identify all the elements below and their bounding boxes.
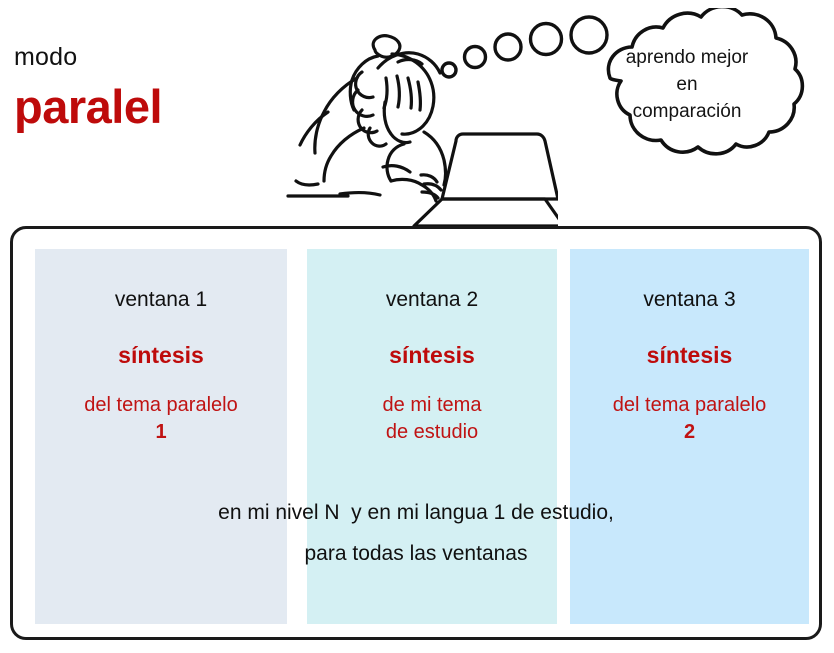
window-3-synthesis-label: síntesis — [570, 342, 809, 370]
window-3-description: del tema paralelo 2 — [570, 392, 809, 447]
bubble-line-2: en — [593, 72, 781, 99]
mode-label: modo — [14, 44, 274, 70]
footer-line-2: para todas las ventanas — [13, 534, 819, 575]
window-2-synthesis-label: síntesis — [307, 342, 557, 370]
mode-value: paralel — [14, 82, 274, 133]
window-2-desc-line-2: de estudio — [307, 419, 557, 447]
window-3-desc-line-1: del tema paralelo — [570, 392, 809, 420]
window-2-description: de mi tema de estudio — [307, 392, 557, 447]
bubble-line-1: aprendo mejor — [593, 45, 781, 72]
window-2-title: ventana 2 — [307, 287, 557, 312]
window-1-desc-line-1: del tema paralelo — [35, 392, 287, 420]
window-1-desc-line-2: 1 — [35, 419, 287, 447]
window-2-desc-line-1: de mi tema — [307, 392, 557, 420]
footer-line-1: en mi nivel N y en mi langua 1 de estudi… — [13, 493, 819, 534]
window-1-title: ventana 1 — [35, 287, 287, 312]
mode-heading: modo paralel — [14, 44, 274, 133]
thought-bubble-text: aprendo mejor en comparación — [593, 45, 781, 126]
window-3-title: ventana 3 — [570, 287, 809, 312]
window-1-synthesis-label: síntesis — [35, 342, 287, 370]
bubble-line-3: comparación — [593, 99, 781, 126]
panel-footer-note: en mi nivel N y en mi langua 1 de estudi… — [13, 493, 819, 575]
window-3-desc-line-2: 2 — [570, 419, 809, 447]
window-1-description: del tema paralelo 1 — [35, 392, 287, 447]
windows-panel: ventana 1 síntesis del tema paralelo 1 v… — [10, 226, 822, 640]
windows-columns: ventana 1 síntesis del tema paralelo 1 v… — [13, 229, 819, 637]
